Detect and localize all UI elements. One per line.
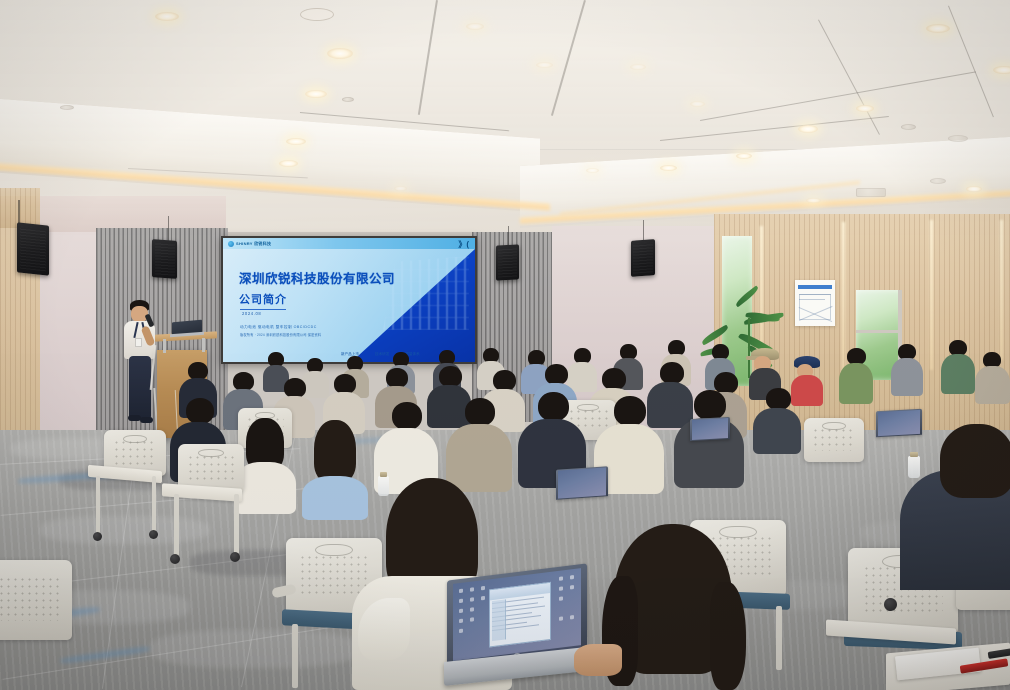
downlight (798, 125, 818, 133)
attendee-hair-strand (710, 582, 746, 690)
attendee-laptop-screen (878, 410, 920, 436)
slide-date: 2024.08 (242, 311, 261, 316)
downlight (993, 66, 1010, 74)
chair-leg (292, 624, 298, 688)
ceiling-vent (856, 188, 886, 197)
slide-tagline: 动力电池 驱动电机 整车控制 OBC/DCDC (240, 325, 317, 330)
wall-speaker-left-far (17, 222, 49, 275)
projection-screen: SHINRY 欣锐科技 》( 深圳欣锐科技股份有限公司 公司简介 2024.08… (221, 236, 477, 364)
chair-back[interactable] (0, 560, 72, 640)
attendee (940, 340, 976, 394)
downlight (806, 198, 821, 203)
chair-leg (152, 476, 156, 532)
presentation-slide: SHINRY 欣锐科技 》( 深圳欣锐科技股份有限公司 公司简介 2024.08… (223, 238, 475, 362)
attendee (890, 344, 924, 396)
downlight (586, 168, 599, 173)
attendee-laptop[interactable] (556, 466, 608, 500)
downlight (279, 160, 298, 167)
chair-leg (174, 494, 179, 556)
conference-room-photo: SHINRY 欣锐科技 》( 深圳欣锐科技股份有限公司 公司简介 2024.08… (0, 0, 1010, 690)
chair-caster (884, 598, 897, 611)
sprinkler-head (901, 124, 916, 130)
sprinkler-head (342, 97, 354, 102)
company-logo-text: SHINRY 欣锐科技 (236, 241, 271, 247)
downlight (926, 24, 950, 33)
attendee (838, 348, 874, 404)
slide-fine-print: 版权所有 · 2024 深圳欣锐科技股份有限公司 保密资料 (240, 332, 321, 337)
downlight (394, 186, 407, 191)
laptop-app-sidebar (492, 599, 506, 641)
wall-stage-header (36, 196, 226, 232)
downlight (305, 90, 327, 98)
wall-speaker-right-near (496, 244, 519, 280)
speaker-cable (643, 220, 644, 242)
chair-leg (96, 476, 100, 534)
carpet-pattern (150, 630, 360, 668)
carpet-pattern (40, 516, 210, 544)
downlight (286, 138, 306, 145)
attendee-laptop-screen (558, 468, 606, 499)
window-mullion (856, 330, 902, 333)
downlight (966, 186, 982, 192)
slide-corner-mark: 》( (458, 239, 469, 250)
ceiling-vent (948, 135, 968, 142)
chair-back[interactable] (804, 418, 864, 462)
slide-logo: SHINRY 欣锐科技 (228, 241, 271, 247)
attendee (974, 352, 1010, 404)
slide-technical-artwork (383, 256, 469, 330)
presenter-trousers (129, 356, 151, 418)
wall-light-strip (930, 220, 933, 370)
chair-leg (776, 606, 782, 670)
attendee-hand (574, 644, 622, 676)
downlight-ring (300, 8, 334, 21)
bottle-cap (380, 472, 387, 477)
wall-light-strip (1000, 220, 1003, 360)
poster-line (799, 294, 831, 320)
downlight (856, 105, 874, 112)
downlight (536, 62, 553, 68)
ceiling-vent (930, 178, 946, 184)
downlight (630, 64, 646, 70)
chair-caster (93, 532, 102, 541)
sprinkler-head (60, 105, 74, 110)
attendee-laptop-screen (692, 418, 729, 440)
downlight (690, 101, 705, 107)
wall-speaker-right-far (631, 239, 655, 277)
plant-leaf (734, 285, 760, 307)
speaker-cable (168, 216, 169, 242)
company-logo-icon (228, 241, 234, 247)
attendee-hair (940, 424, 1010, 498)
wall-speaker-left-near (152, 239, 177, 279)
slide-subtitle: 公司简介 (239, 291, 287, 307)
downlight (660, 165, 677, 171)
downlight (327, 48, 353, 59)
bottle-cap (910, 452, 918, 457)
laptop-app-window (489, 582, 551, 648)
water-bottle[interactable] (908, 456, 920, 478)
chair-caster (230, 552, 240, 562)
presenter-shoe (140, 417, 153, 423)
chair-caster (149, 530, 158, 539)
downlight (155, 12, 179, 21)
attendee (752, 388, 802, 454)
podium-leg (202, 338, 205, 352)
chair-leg (234, 494, 239, 554)
podium-leg (163, 339, 166, 353)
attendee-laptop[interactable] (690, 417, 730, 441)
chair-caster (170, 554, 180, 564)
slide-title: 深圳欣锐科技股份有限公司 (239, 268, 395, 287)
downlight (736, 153, 752, 159)
downlight (466, 23, 484, 30)
presenter-badge (135, 338, 142, 347)
slide-divider (240, 309, 286, 310)
poster-header-band (798, 285, 832, 289)
attendee-laptop[interactable] (876, 409, 922, 437)
wall-poster (795, 280, 835, 326)
